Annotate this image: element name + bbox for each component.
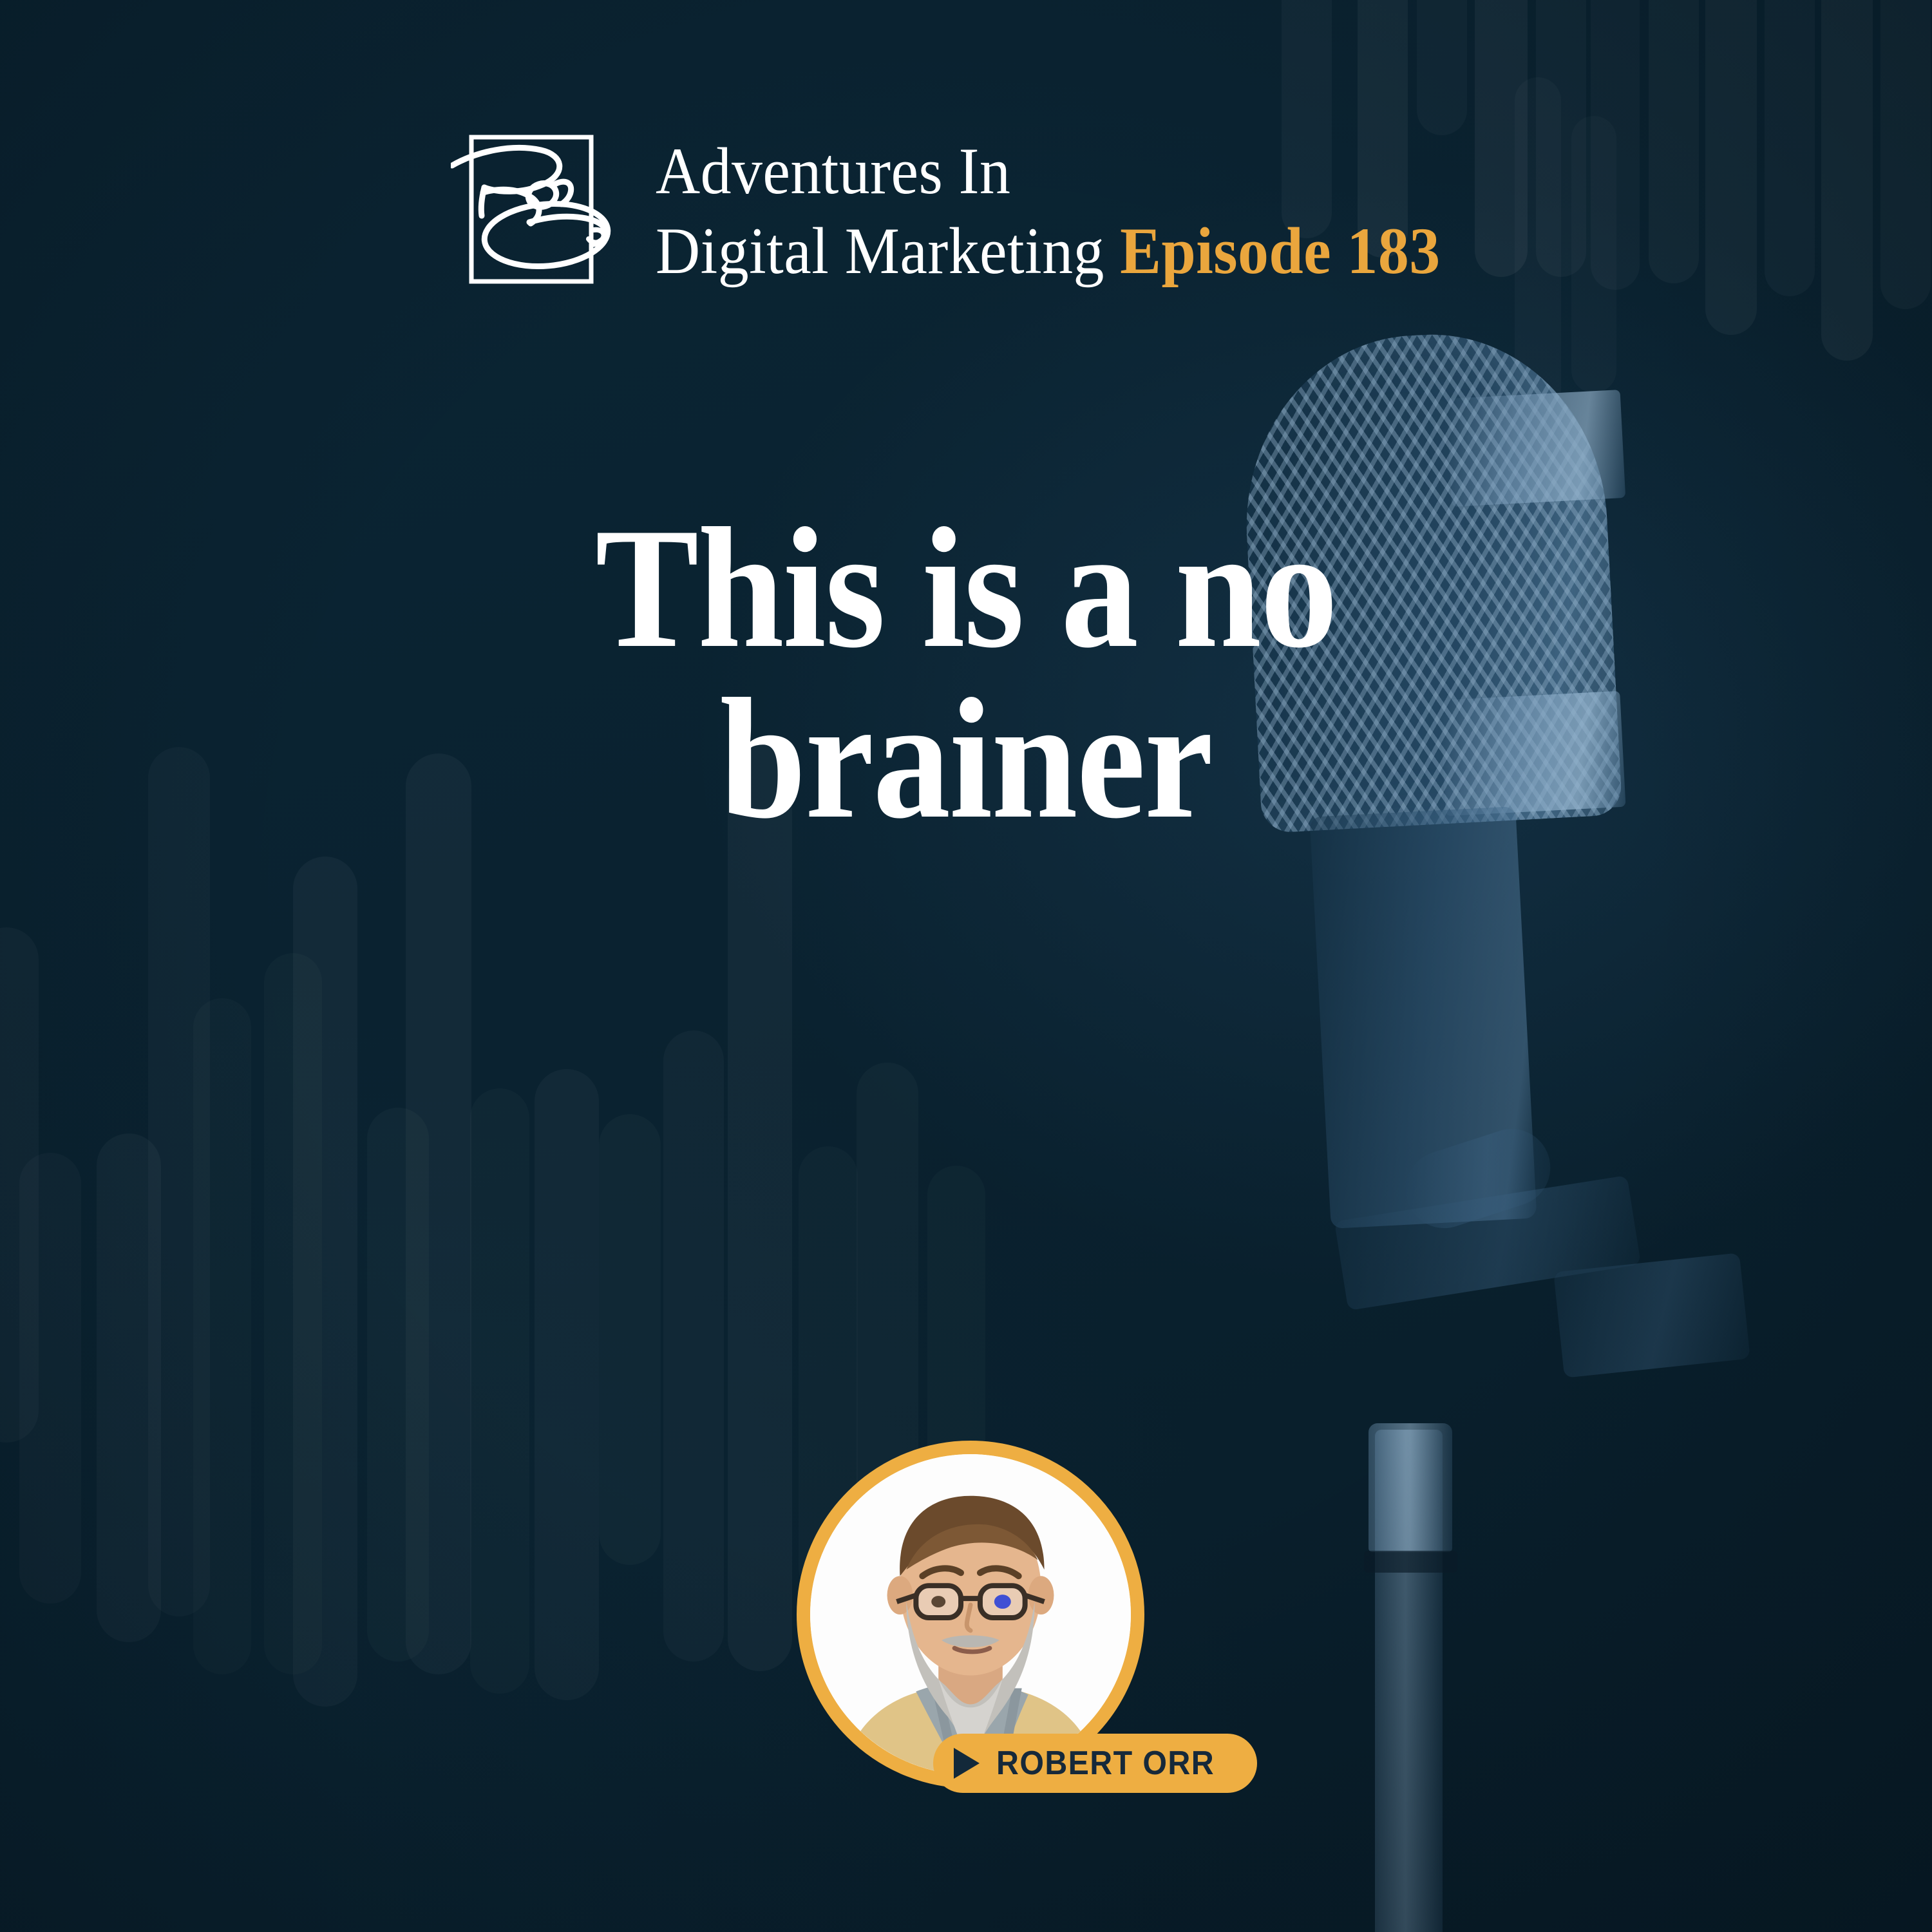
avatar <box>810 1454 1131 1775</box>
show-header: Adventures In Digital MarketingEpisode 1… <box>451 126 1499 294</box>
waveform-bar <box>663 1030 724 1662</box>
podcast-cover-art: Adventures In Digital MarketingEpisode 1… <box>0 0 1932 1932</box>
show-title-line-1: Adventures In <box>656 132 1441 212</box>
microphone-stand-ring <box>1364 1551 1457 1573</box>
show-title-text: Adventures In Digital MarketingEpisode 1… <box>656 128 1499 291</box>
show-title-line-2-text: Digital Marketing <box>656 214 1104 288</box>
waveform-bar <box>406 753 471 1674</box>
episode-title: This is a no brainer <box>245 502 1687 844</box>
waveform-bar <box>193 998 251 1674</box>
episode-title-line-2: brainer <box>317 673 1615 844</box>
episode-label: Episode 183 <box>1120 214 1440 288</box>
microphone-stand-knuckle <box>1368 1423 1452 1552</box>
microphone-band-top <box>1446 390 1625 507</box>
waveform-bar <box>19 1153 81 1604</box>
host-name: ROBERT ORR <box>996 1744 1215 1783</box>
waveform-bar <box>728 744 792 1671</box>
play-triangle-icon <box>954 1748 980 1779</box>
show-title-line-2: Digital MarketingEpisode 183 <box>656 212 1441 292</box>
host-name-badge[interactable]: ROBERT ORR <box>933 1734 1257 1793</box>
episode-title-line-1: This is a no <box>317 502 1615 673</box>
waveform-bar <box>470 1088 529 1694</box>
waveform-bar <box>599 1114 661 1565</box>
waveform-bar <box>293 857 357 1707</box>
waveform-bar <box>535 1069 599 1700</box>
microphone-mount-plate <box>1553 1253 1750 1378</box>
host-block: ROBERT ORR <box>797 1441 1144 1788</box>
ror-signature-square-logo-icon <box>451 126 620 294</box>
